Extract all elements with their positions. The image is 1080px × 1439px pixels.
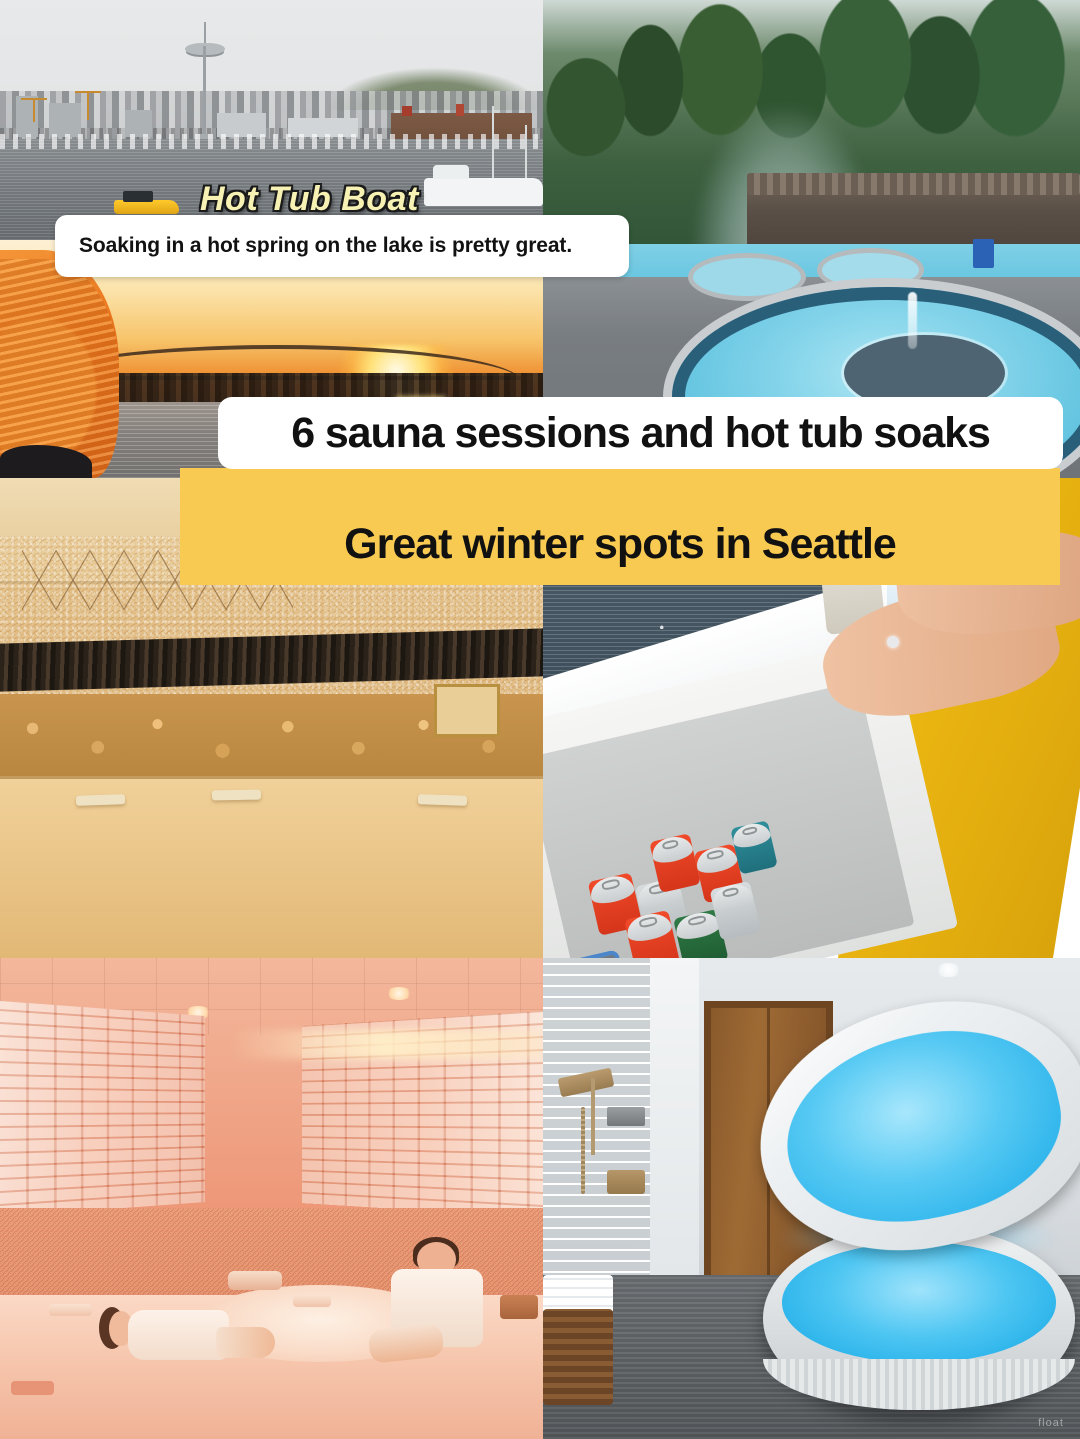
wall-panel (434, 684, 499, 737)
fountain-jet (908, 292, 917, 349)
shower-controls (607, 1107, 645, 1126)
hot-tub-boat (114, 200, 179, 213)
white-boat (424, 178, 543, 207)
shower-valve (607, 1170, 645, 1194)
recycling-bin (973, 239, 994, 268)
recessed-light-icon (935, 963, 962, 977)
caption-box: Soaking in a hot spring on the lake is p… (55, 215, 629, 277)
headline-banner: 6 sauna sessions and hot tub soaks (218, 397, 1063, 469)
person-sitting (391, 1242, 483, 1367)
pod-water (782, 1242, 1056, 1363)
floor-mat (76, 794, 125, 806)
hot-tub-boat-wordmark: Hot Tub Boat (200, 180, 419, 219)
legs (216, 1327, 275, 1358)
ring-icon (887, 636, 899, 648)
floor-mat (418, 794, 467, 806)
salt-brick-wall-left (0, 1001, 205, 1217)
moored-boats (0, 134, 543, 148)
poster-canvas: float Hot Tub Boat Soaking in a hot spri… (0, 0, 1080, 1439)
float-pod-base (763, 1227, 1074, 1410)
headline-text: 6 sauna sessions and hot tub soaks (291, 409, 990, 458)
shower-tile-wall (543, 958, 661, 1304)
white-robe (128, 1310, 229, 1360)
small-pool (693, 258, 800, 296)
subheadline-text: Great winter spots in Seattle (344, 520, 896, 569)
floor-mat (212, 790, 261, 801)
floor-pillow (11, 1381, 54, 1395)
cooler-interior (543, 681, 914, 958)
construction-crane (87, 91, 89, 120)
sailboat-mast (525, 125, 527, 178)
construction-crane (33, 98, 35, 122)
building (49, 103, 82, 137)
float-watermark: float (1038, 1417, 1064, 1429)
salt-scene (0, 958, 543, 1439)
photo-float-tank: float (543, 958, 1080, 1439)
salt-basket (500, 1295, 538, 1319)
subheadline-banner: Great winter spots in Seattle (180, 468, 1060, 585)
shower-wall-return (650, 958, 698, 1295)
wall-glow (228, 1030, 543, 1059)
phone-in-case (563, 949, 625, 958)
building (16, 96, 38, 137)
small-pool (822, 253, 919, 286)
shower-hose (581, 1107, 585, 1194)
floor-pillow (49, 1304, 92, 1316)
photo-salt-room (0, 958, 543, 1439)
floor-pillow (293, 1295, 331, 1307)
float-scene: float (543, 958, 1080, 1439)
wicker-basket (543, 1309, 613, 1405)
legs (367, 1323, 444, 1363)
ceiling-light-icon (386, 987, 412, 1000)
sailboat-mast (492, 106, 494, 178)
salt-bowls (228, 1271, 282, 1290)
caption-text: Soaking in a hot spring on the lake is p… (79, 234, 572, 257)
building (125, 110, 152, 136)
shower-pipe (591, 1078, 595, 1155)
person-lying-down (109, 1304, 272, 1371)
